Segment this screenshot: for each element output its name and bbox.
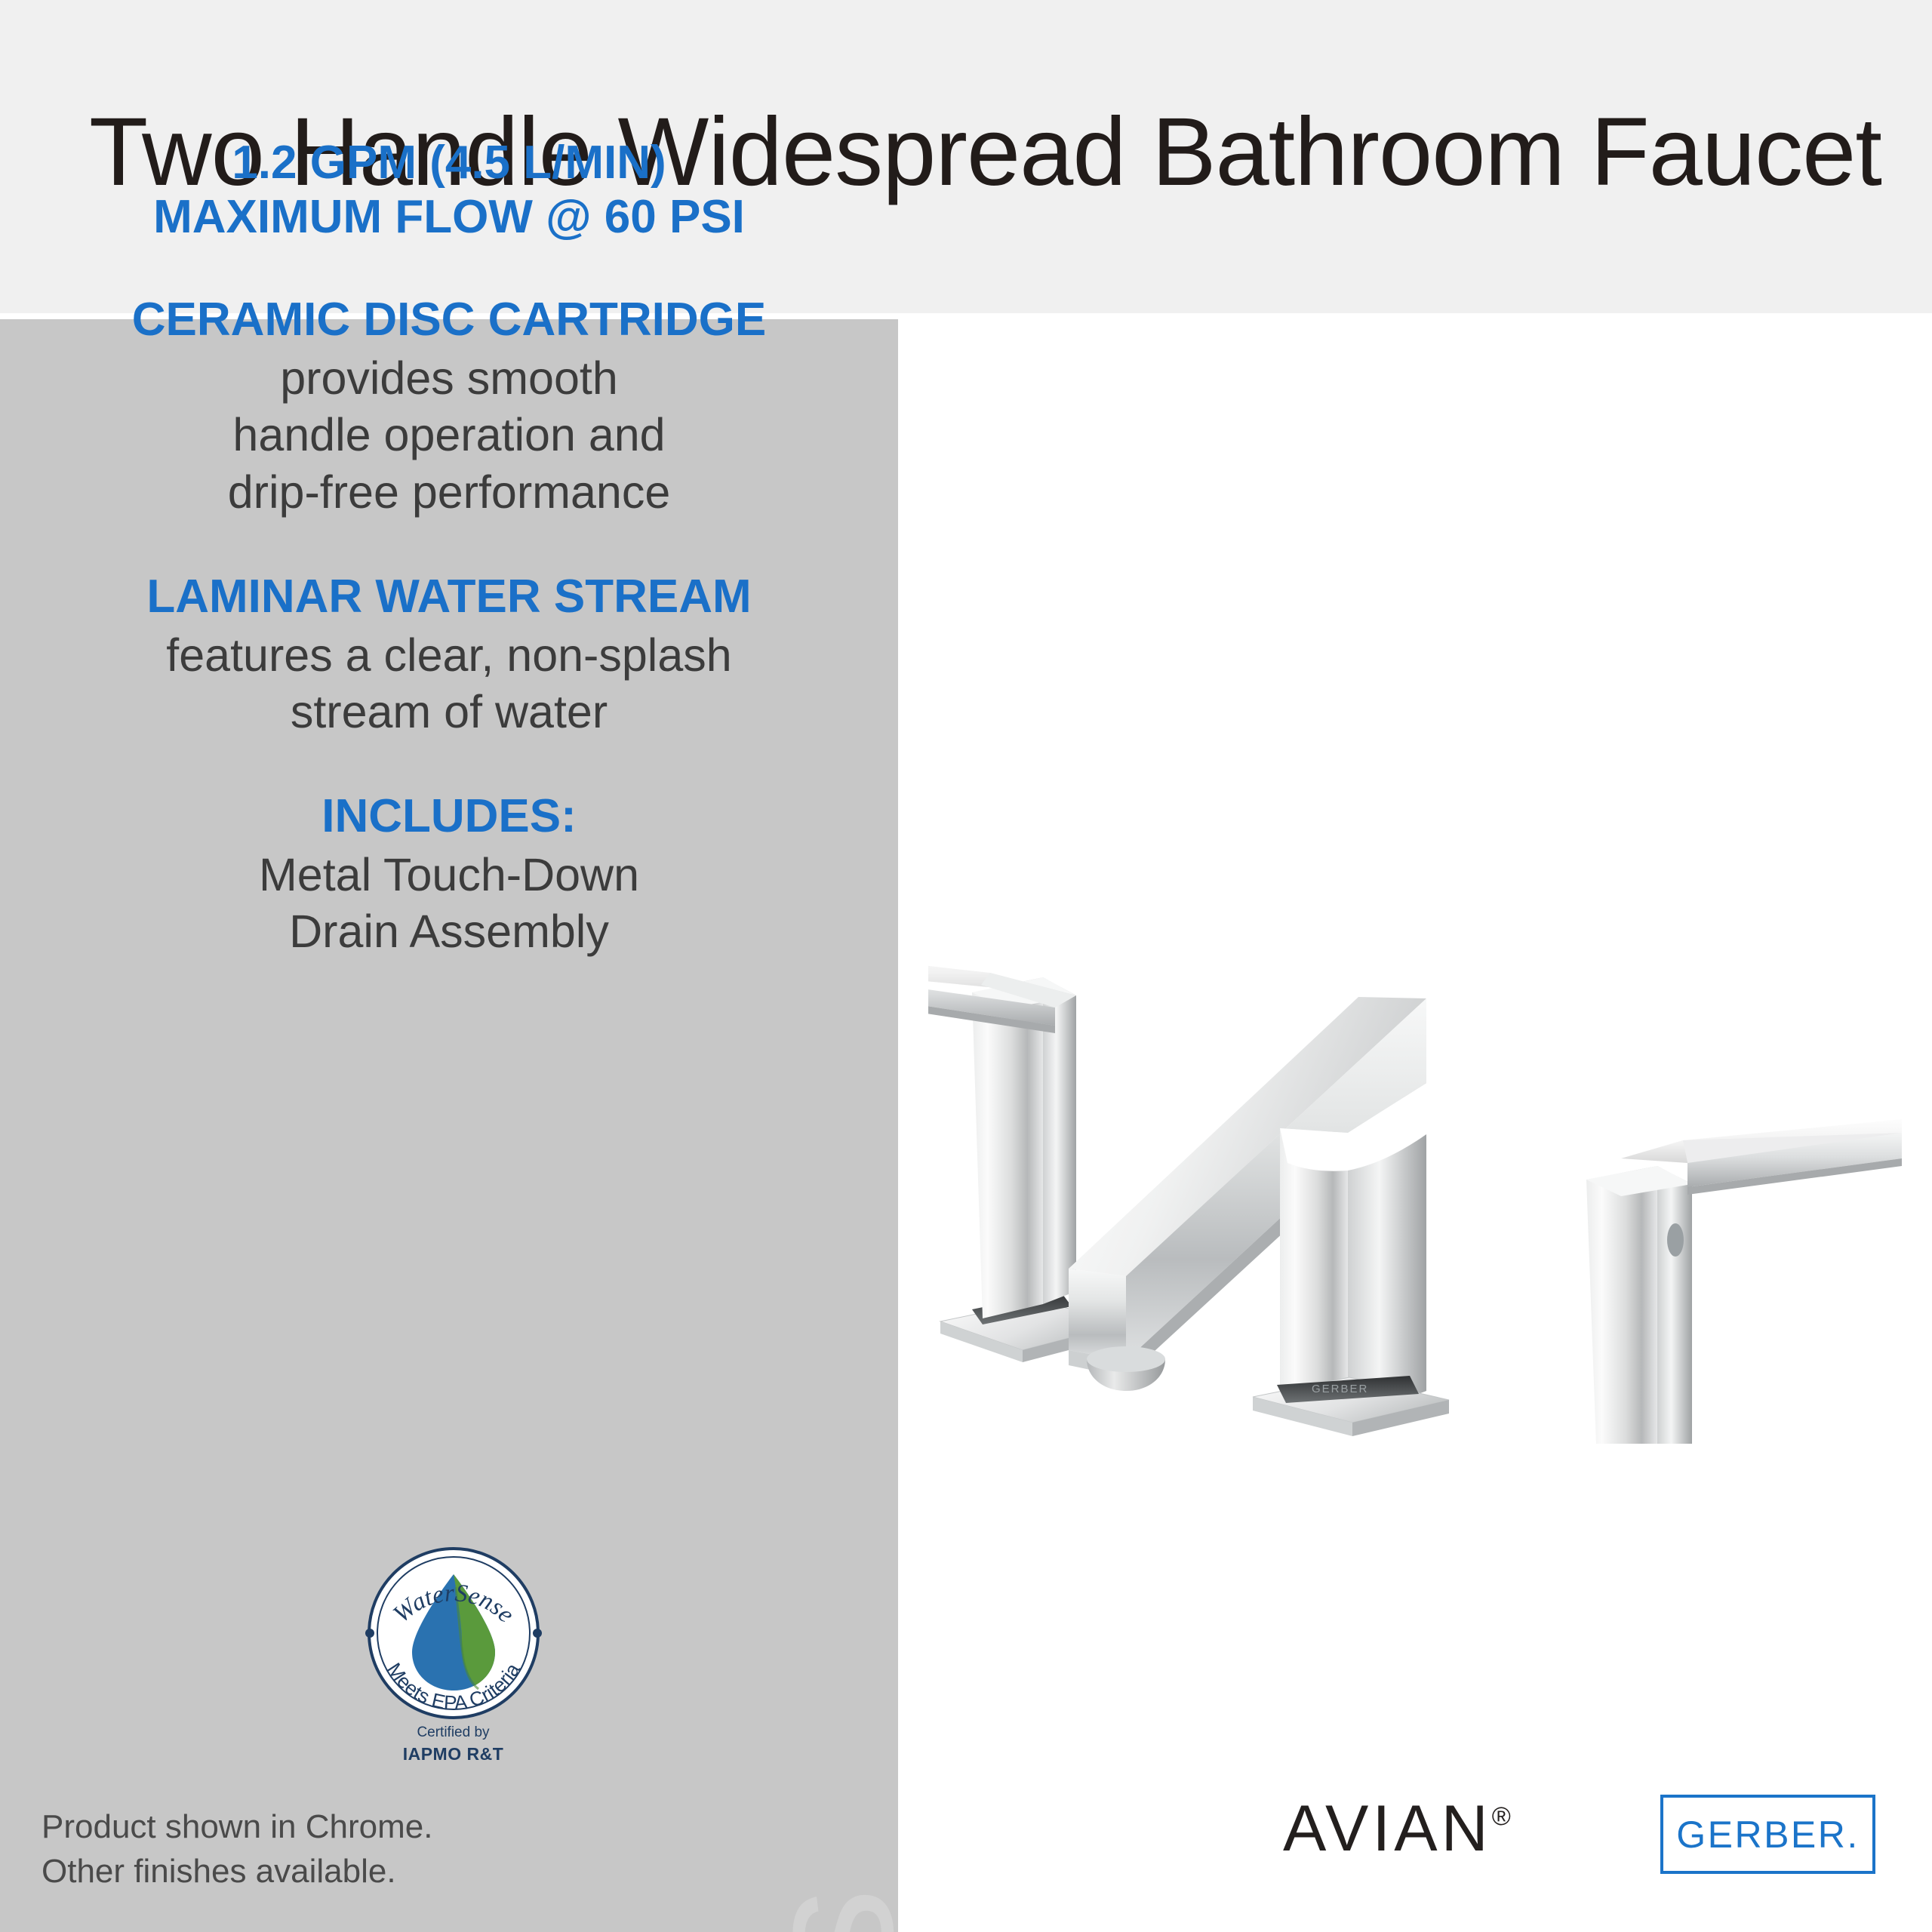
certifier-name: IAPMO R&T [353, 1743, 553, 1766]
gerber-logo: GERBER. [1660, 1795, 1875, 1874]
feature-body: Metal Touch-Down Drain Assembly [0, 847, 898, 961]
gerber-wordmark: GERBER. [1663, 1798, 1872, 1871]
feature-body-line: provides smooth [0, 350, 898, 408]
certified-by-label: Certified by [353, 1723, 553, 1743]
feature-block-ceramic-disc-cartridge: CERAMIC DISC CARTRIDGE provides smooth h… [0, 293, 898, 521]
brand-logo-row: AVIAN® GERBER. [1283, 1787, 1887, 1885]
feature-body-line: handle operation and [0, 407, 898, 464]
avian-wordmark: AVIAN [1283, 1792, 1492, 1865]
watersense-seal-icon: WaterSense Meets EPA Criteria [353, 1546, 553, 1721]
disclaimer-line: Other finishes available. [42, 1850, 432, 1894]
faucet-product-image: GERBER [928, 817, 1902, 1444]
feature-heading-line: MAXIMUM FLOW @ 60 PSI [0, 190, 898, 245]
spout-brand-mark: GERBER [1312, 1383, 1368, 1395]
feature-body-line: features a clear, non-splash [0, 627, 898, 685]
feature-heading: 1.2 GPM (4.5 L/MIN) MAXIMUM FLOW @ 60 PS… [0, 136, 898, 245]
product-infographic: Two Handle Widespread Bathroom Faucet Fe… [0, 0, 1932, 1932]
feature-body-line: Metal Touch-Down [0, 847, 898, 904]
feature-list: 1.2 GPM (4.5 L/MIN) MAXIMUM FLOW @ 60 PS… [0, 136, 898, 1009]
right-handle [1555, 1119, 1902, 1444]
finish-disclaimer: Product shown in Chrome. Other finishes … [42, 1805, 432, 1894]
feature-body-line: Drain Assembly [0, 903, 898, 961]
feature-body: provides smooth handle operation and dri… [0, 350, 898, 521]
features-watermark: Features [736, 1887, 898, 1932]
watersense-certifier-block: Certified by IAPMO R&T [353, 1723, 553, 1766]
feature-heading-line: 1.2 GPM (4.5 L/MIN) [0, 136, 898, 190]
feature-body-line: drip-free performance [0, 464, 898, 521]
feature-block-includes: INCLUDES: Metal Touch-Down Drain Assembl… [0, 789, 898, 961]
feature-body: features a clear, non-splash stream of w… [0, 627, 898, 741]
feature-heading: CERAMIC DISC CARTRIDGE [0, 293, 898, 347]
feature-heading: LAMINAR WATER STREAM [0, 570, 898, 624]
avian-logo: AVIAN® [1283, 1792, 1511, 1866]
feature-block-laminar-water-stream: LAMINAR WATER STREAM features a clear, n… [0, 570, 898, 741]
feature-heading: INCLUDES: [0, 789, 898, 844]
product-image-area: GERBER [898, 319, 1932, 1932]
disclaimer-line: Product shown in Chrome. [42, 1805, 432, 1850]
feature-block-flow-rate: 1.2 GPM (4.5 L/MIN) MAXIMUM FLOW @ 60 PS… [0, 136, 898, 245]
spout: GERBER [1069, 997, 1449, 1436]
watersense-logo: WaterSense Meets EPA Criteria Certified … [353, 1546, 553, 1772]
feature-body-line: stream of water [0, 684, 898, 741]
registered-trademark-icon: ® [1492, 1802, 1511, 1831]
